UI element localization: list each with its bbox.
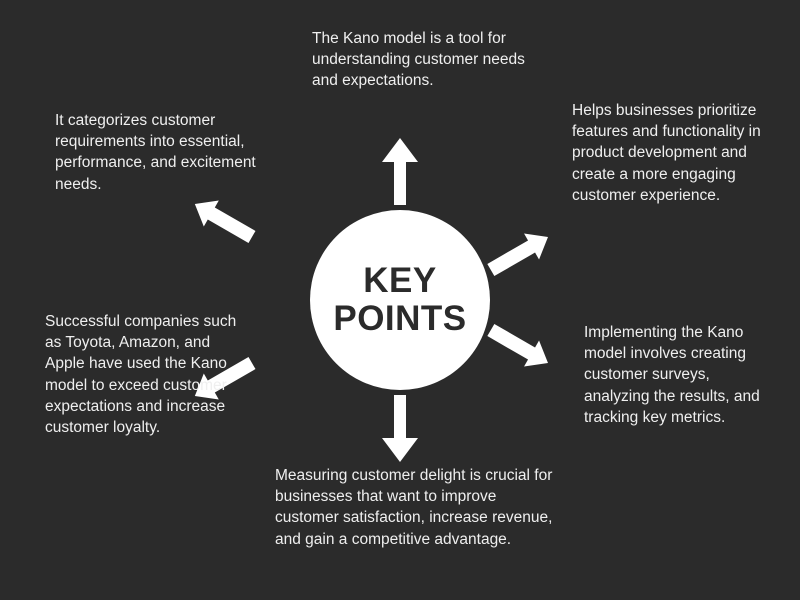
arrow-down-right-icon <box>483 317 555 376</box>
arrow-down-icon <box>382 395 418 462</box>
callout-top: The Kano model is a tool for understandi… <box>312 28 526 92</box>
arrow-up-left-icon <box>187 191 259 250</box>
callout-bottom: Measuring customer delight is crucial fo… <box>275 465 560 550</box>
diagram-canvas: KEY POINTS The Kano model is a tool for … <box>0 0 800 600</box>
center-hub-label: KEY POINTS <box>333 262 466 338</box>
callout-bottom-right: Implementing the Kano model involves cre… <box>584 322 764 428</box>
callout-bottom-left: Successful companies such as Toyota, Ama… <box>45 311 250 438</box>
callout-top-left: It categorizes customer requirements int… <box>55 110 260 195</box>
arrow-up-icon <box>382 138 418 205</box>
arrow-up-right-icon <box>483 224 555 283</box>
callout-top-right: Helps businesses prioritize features and… <box>572 100 762 206</box>
center-hub: KEY POINTS <box>310 210 490 390</box>
